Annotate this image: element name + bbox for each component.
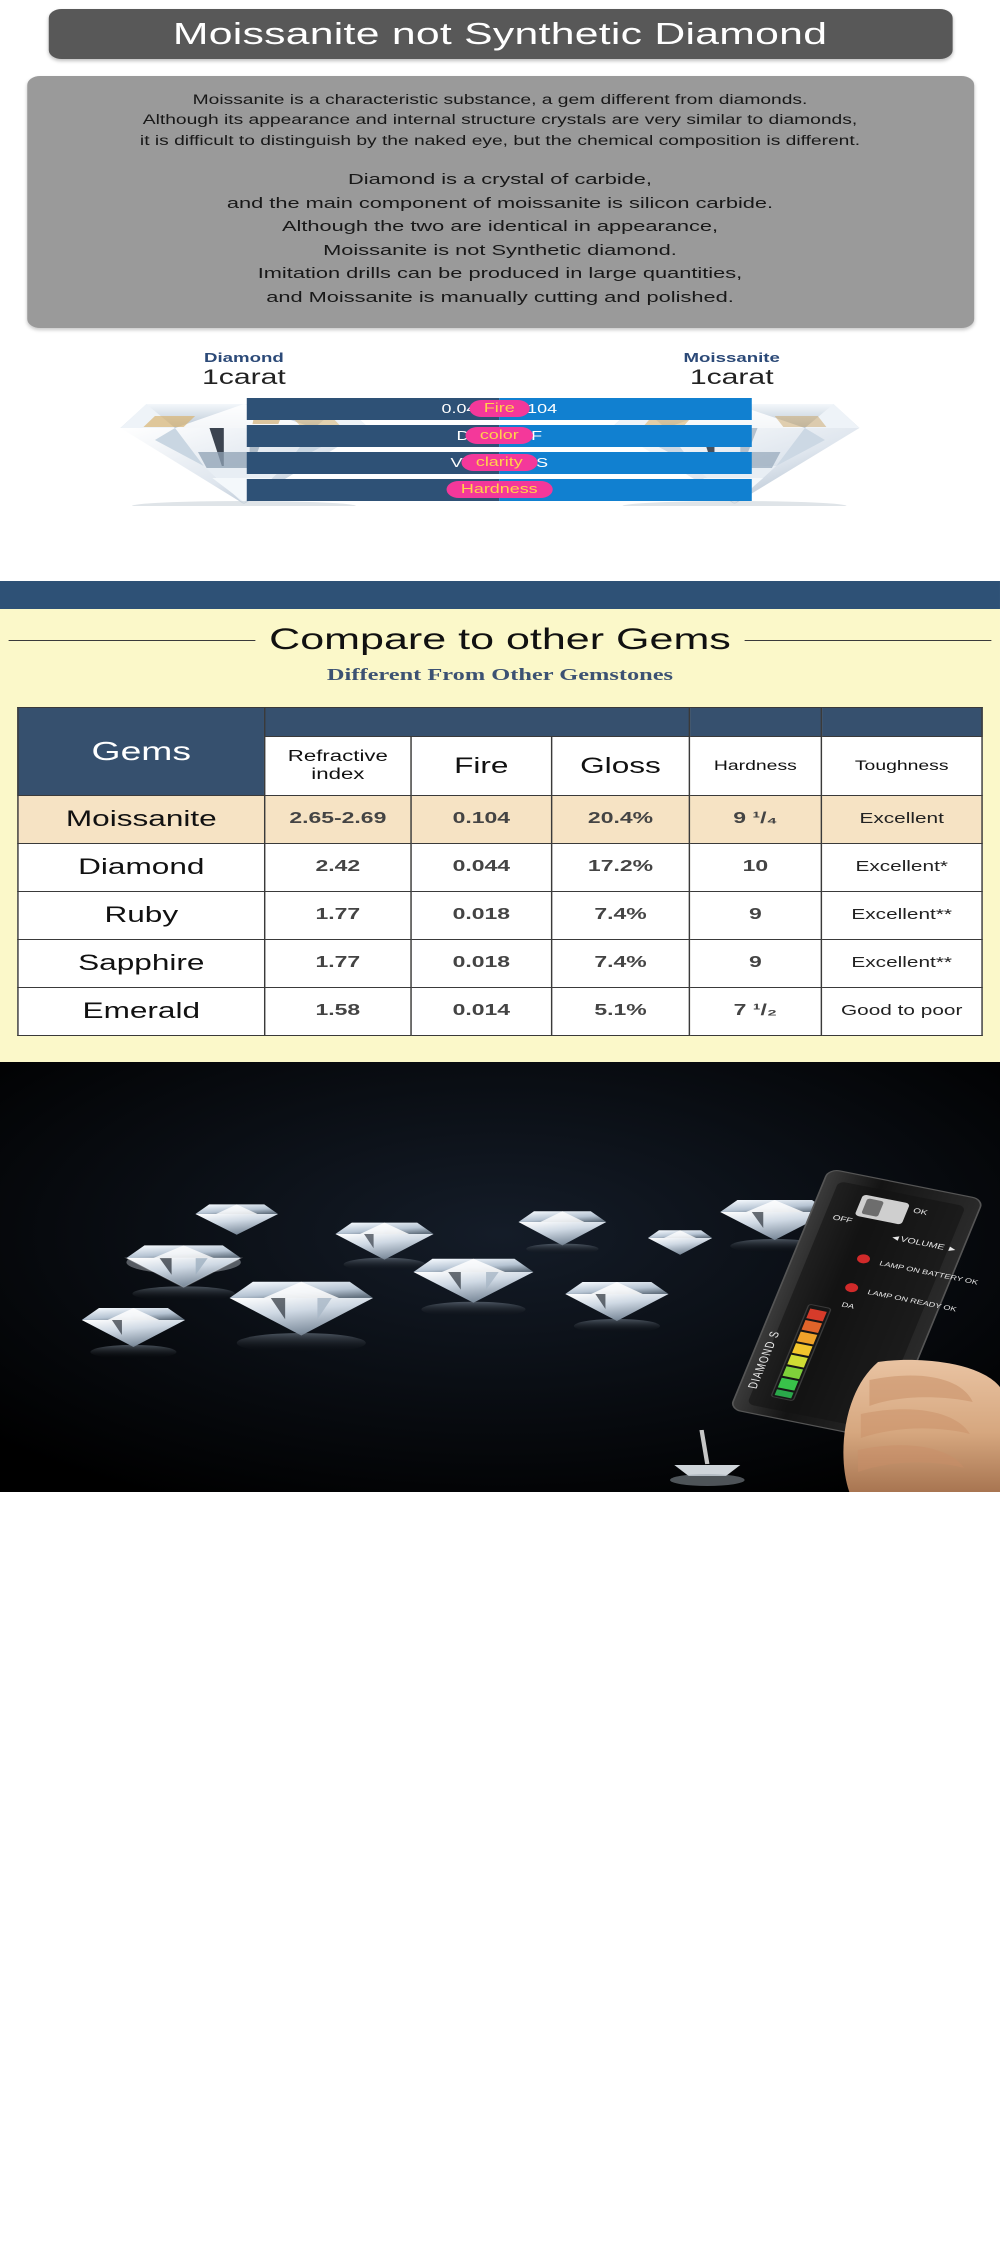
page-title-banner: Moissanite not Synthetic Diamond (48, 9, 952, 59)
table-header-toughness: Toughness (821, 736, 982, 795)
cell-toughness: Good to poor (821, 987, 982, 1035)
intro-line-9: and Moissanite is manually cutting and p… (266, 289, 734, 306)
cell-gloss: 5.1% (552, 987, 690, 1035)
header-strip-mid (265, 707, 690, 736)
property-bar-row: VVS clarity VVS (247, 452, 752, 474)
intro-line-3: it is difficult to distinguish by the na… (140, 133, 860, 148)
cell-gem-name: Ruby (18, 891, 265, 939)
cell-hardness: 10 (689, 843, 821, 891)
cell-gloss: 7.4% (552, 939, 690, 987)
table-header-gems: Gems (18, 707, 265, 795)
bar-right-half: VVS (499, 452, 752, 474)
gem-comparison-table: Gems Refractive index Fire Gloss Hardnes… (17, 707, 983, 1036)
property-bar-row: D-F color D-F (247, 425, 752, 447)
table-row: Moissanite 2.65-2.69 0.104 20.4% 9 ¹/₄ E… (18, 795, 982, 843)
cell-gloss: 7.4% (552, 891, 690, 939)
table-row: Sapphire 1.77 0.018 7.4% 9 Excellent** (18, 939, 982, 987)
header-strip-toughness (821, 707, 982, 736)
cell-refractive-index: 2.42 (265, 843, 411, 891)
heading-rule-left (9, 640, 264, 641)
property-bar-row: 10 Hardness 9¼ (247, 479, 752, 501)
right-gem-carat: 1carat (603, 365, 861, 390)
cell-gem-name: Moissanite (18, 795, 265, 843)
cell-gem-name: Diamond (18, 843, 265, 891)
intro-paragraph-2: Diamond is a crystal of carbide, and the… (41, 168, 959, 309)
cell-fire: 0.018 (411, 939, 552, 987)
cell-hardness: 9 (689, 939, 821, 987)
bar-property-pill: clarity (462, 454, 538, 472)
cell-fire: 0.044 (411, 843, 552, 891)
left-gem-name: Diamond (115, 351, 373, 366)
left-gem-carat: 1carat (115, 365, 373, 390)
intro-line-1: Moissanite is a characteristic substance… (193, 92, 808, 107)
table-header-gloss: Gloss (552, 736, 690, 795)
bar-left-half: 0.044 (247, 398, 500, 420)
cell-fire: 0.104 (411, 795, 552, 843)
product-photo-diamonds-with-tester: OK OFF ◄VOLUME ► LAMP ON BATTERY OK LAMP… (0, 1062, 1000, 1492)
header-strip-hardness (689, 707, 821, 736)
bar-property-pill: Hardness (447, 481, 552, 499)
cell-refractive-index: 1.58 (265, 987, 411, 1035)
page-title: Moissanite not Synthetic Diamond (173, 16, 827, 52)
cell-toughness: Excellent (821, 795, 982, 843)
intro-text-panel: Moissanite is a characteristic substance… (27, 76, 974, 328)
table-row: Emerald 1.58 0.014 5.1% 7 ¹/₂ Good to po… (18, 987, 982, 1035)
right-gem-caption: Moissanite 1carat (603, 351, 861, 391)
bar-right-half: 0.104 (499, 398, 752, 420)
compare-heading-row: Compare to other Gems (0, 617, 1000, 663)
cell-fire: 0.014 (411, 987, 552, 1035)
cell-gloss: 20.4% (552, 795, 690, 843)
cell-hardness: 9 ¹/₄ (689, 795, 821, 843)
product-detail-page: Moissanite not Synthetic Diamond Moissan… (0, 0, 1000, 2250)
cell-refractive-index: 2.65-2.69 (265, 795, 411, 843)
intro-line-7: Moissanite is not Synthetic diamond. (323, 242, 677, 259)
diamond-vs-moissanite-graphic: Diamond 1carat Moissanite 1carat (0, 346, 1000, 551)
cell-toughness: Excellent** (821, 939, 982, 987)
cell-gem-name: Emerald (18, 987, 265, 1035)
cell-gem-name: Sapphire (18, 939, 265, 987)
cell-toughness: Excellent** (821, 891, 982, 939)
table-header-fire: Fire (411, 736, 552, 795)
cell-toughness: Excellent* (821, 843, 982, 891)
table-header-hardness: Hardness (689, 736, 821, 795)
table-header-refractive-index: Refractive index (265, 736, 411, 795)
left-gem-caption: Diamond 1carat (115, 351, 373, 391)
table-header-strip: Gems (18, 707, 982, 736)
compare-heading: Compare to other Gems (255, 623, 745, 657)
compare-subheading: Different From Other Gemstones (0, 665, 1000, 685)
intro-line-8: Imitation drills can be produced in larg… (258, 265, 743, 282)
table-row: Diamond 2.42 0.044 17.2% 10 Excellent* (18, 843, 982, 891)
property-bar-row: 0.044 Fire 0.104 (247, 398, 752, 420)
right-gem-name: Moissanite (603, 351, 861, 366)
cell-hardness: 7 ¹/₂ (689, 987, 821, 1035)
bar-property-pill: Fire (469, 400, 529, 418)
intro-line-5: and the main component of moissanite is … (227, 195, 773, 212)
bar-property-pill: color (465, 427, 533, 445)
cell-refractive-index: 1.77 (265, 891, 411, 939)
intro-line-6: Although the two are identical in appear… (282, 218, 718, 235)
bar-left-half: D-F (247, 425, 500, 447)
cell-hardness: 9 (689, 891, 821, 939)
property-bars: 0.044 Fire 0.104 D-F color D-F (247, 398, 752, 506)
cell-gloss: 17.2% (552, 843, 690, 891)
cell-refractive-index: 1.77 (265, 939, 411, 987)
intro-line-4: Diamond is a crystal of carbide, (348, 171, 652, 188)
intro-paragraph-1: Moissanite is a characteristic substance… (41, 90, 959, 151)
section-divider-band (0, 581, 1000, 609)
heading-rule-right (736, 640, 991, 641)
intro-line-2: Although its appearance and internal str… (143, 112, 857, 127)
table-row: Ruby 1.77 0.018 7.4% 9 Excellent** (18, 891, 982, 939)
cell-fire: 0.018 (411, 891, 552, 939)
bar-right-half: D-F (499, 425, 752, 447)
compare-section: Compare to other Gems Different From Oth… (0, 609, 1000, 1062)
